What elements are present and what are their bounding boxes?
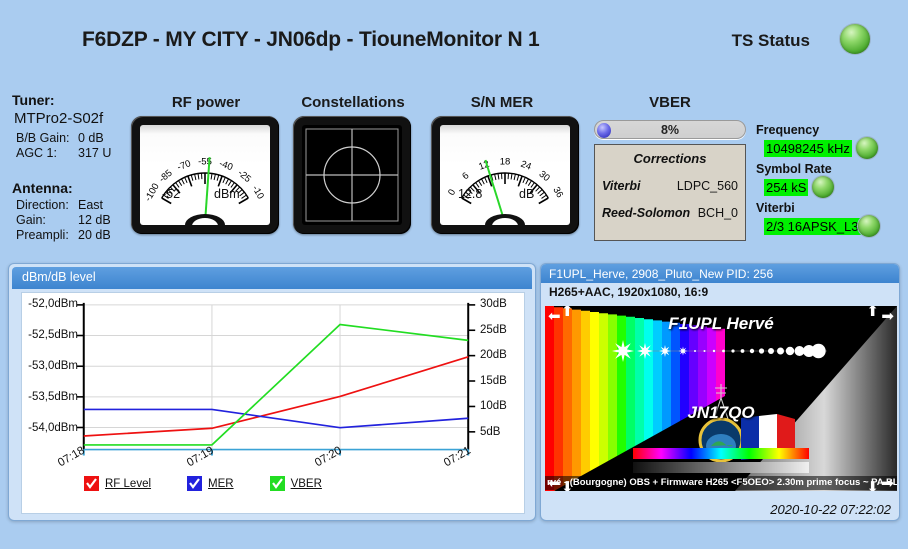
antenna-direction-label: Direction: bbox=[16, 198, 78, 213]
resize-arrow-bottom-left-icon[interactable]: ⬅ bbox=[548, 476, 561, 491]
legend-checkbox[interactable] bbox=[84, 476, 99, 491]
vber-title: VBER bbox=[598, 94, 742, 111]
corrections-reed-solomon-value: BCH_0 bbox=[698, 206, 738, 220]
chart-plot-area: RF LevelMERVBER -52,0dBm-52,5dBm-53,0dBm… bbox=[21, 292, 525, 514]
viterbi-label: Viterbi bbox=[756, 201, 902, 215]
frequency-row: 10498245 kHz bbox=[764, 137, 902, 159]
chart-y-tick-label: -53,0dBm bbox=[22, 360, 78, 372]
rf-power-title: RF power bbox=[136, 94, 276, 111]
viterbi-row: 2/3 16APSK_L3 bbox=[764, 215, 902, 237]
chart-y2-tick-label: 5dB bbox=[480, 426, 500, 438]
viterbi-lock-led-icon bbox=[858, 215, 880, 237]
resize-arrow-up-right-icon[interactable]: ⬆ bbox=[866, 306, 879, 319]
frequency-label: Frequency bbox=[756, 123, 902, 137]
antenna-row-preampli: Preampli: 20 dB bbox=[16, 228, 130, 243]
video-panel: F1UPL_Herve, 2908_Pluto_New PID: 256 H26… bbox=[540, 263, 900, 521]
video-ticker-text: rvé - (Bourgogne) OBS + Firmware H265 <F… bbox=[545, 476, 897, 490]
resize-arrow-up-left-icon[interactable]: ⬆ bbox=[561, 306, 574, 319]
antenna-gain-label: Gain: bbox=[16, 213, 78, 228]
antenna-row-gain: Gain: 12 dB bbox=[16, 213, 130, 228]
antenna-gain-value: 12 dB bbox=[78, 213, 111, 228]
symbol-rate-row: 254 kS bbox=[764, 176, 902, 198]
svg-text:-70: -70 bbox=[176, 158, 193, 173]
corrections-row-reed-solomon: Reed-Solomon BCH_0 bbox=[595, 206, 745, 220]
constellations-title: Constellations bbox=[292, 94, 414, 111]
video-callsign-overlay: F1UPL Hervé bbox=[545, 314, 897, 334]
vber-progress-bar: 8% bbox=[594, 120, 746, 139]
tuner-row-agc: AGC 1: 317 U bbox=[16, 146, 130, 161]
svg-text:0: 0 bbox=[446, 187, 458, 197]
tuner-bb-gain-label: B/B Gain: bbox=[16, 131, 78, 146]
symbol-rate-value: 254 kS bbox=[764, 179, 808, 196]
chart-legend-item[interactable]: VBER bbox=[270, 476, 322, 491]
svg-text:-10: -10 bbox=[250, 184, 266, 201]
symbol-rate-label: Symbol Rate bbox=[756, 162, 902, 176]
color-bar-strip bbox=[633, 448, 809, 459]
chart-y2-tick-label: 15dB bbox=[480, 375, 507, 387]
tuner-row-bb-gain: B/B Gain: 0 dB bbox=[16, 131, 130, 146]
chart-panel: dBm/dB level RF LevelMERVBER -52,0dBm-52… bbox=[8, 263, 536, 521]
corrections-reed-solomon-label: Reed-Solomon bbox=[602, 206, 690, 220]
frequency-value: 10498245 kHz bbox=[764, 140, 852, 157]
svg-text:6: 6 bbox=[460, 170, 471, 182]
antenna-row-direction: Direction: East bbox=[16, 198, 130, 213]
ts-status-label: TS Status bbox=[732, 31, 810, 51]
chart-panel-title: dBm/dB level bbox=[12, 267, 532, 289]
sn-mer-meter: 061218243036 12.8 dB bbox=[431, 116, 579, 234]
gray-scale-strip bbox=[633, 462, 809, 473]
chart-y2-tick-label: 10dB bbox=[480, 400, 507, 412]
vber-percent-label: 8% bbox=[595, 121, 745, 138]
legend-label: VBER bbox=[291, 478, 322, 490]
chart-y-tick-label: -52,5dBm bbox=[22, 329, 78, 341]
video-timestamp: 2020-10-22 07:22:02 bbox=[770, 502, 891, 517]
chart-legend: RF LevelMERVBER bbox=[84, 476, 322, 491]
chart-legend-item[interactable]: RF Level bbox=[84, 476, 151, 491]
corrections-viterbi-label: Viterbi bbox=[602, 179, 640, 193]
viterbi-value: 2/3 16APSK_L3 bbox=[764, 218, 872, 235]
tuner-agc-label: AGC 1: bbox=[16, 146, 78, 161]
tuner-bb-gain-value: 0 dB bbox=[78, 131, 104, 146]
rf-power-meter: -100-85-70-55-40-25-10 -52 dBm bbox=[131, 116, 279, 234]
chart-y2-tick-label: 30dB bbox=[480, 298, 507, 310]
sn-mer-value: 12.8 bbox=[458, 187, 482, 201]
symbol-rate-lock-led-icon bbox=[812, 176, 834, 198]
antenna-info: Antenna: Direction: East Gain: 12 dB Pre… bbox=[12, 180, 130, 243]
corrections-viterbi-value: LDPC_560 bbox=[677, 179, 738, 193]
chart-y-tick-label: -54,0dBm bbox=[22, 422, 78, 434]
tuner-agc-value: 317 U bbox=[78, 146, 111, 161]
antenna-heading: Antenna: bbox=[12, 180, 130, 196]
resize-arrow-down-left-icon[interactable]: ⬇ bbox=[561, 480, 574, 491]
svg-text:18: 18 bbox=[500, 157, 511, 168]
resize-arrow-bottom-right-icon[interactable]: ➡ bbox=[881, 476, 894, 491]
chart-y-tick-label: -52,0dBm bbox=[22, 298, 78, 310]
signal-readouts: Frequency 10498245 kHz Symbol Rate 254 k… bbox=[756, 120, 902, 237]
legend-label: RF Level bbox=[105, 478, 151, 490]
sn-mer-unit: dB bbox=[519, 187, 534, 201]
sn-mer-scale: 061218243036 bbox=[440, 127, 570, 225]
corrections-panel: Corrections Viterbi LDPC_560 Reed-Solomo… bbox=[594, 144, 746, 241]
ts-status-led-icon bbox=[840, 24, 870, 54]
video-format-label: H265+AAC, 1920x1080, 16:9 bbox=[541, 283, 899, 302]
antenna-preampli-label: Preampli: bbox=[16, 228, 78, 243]
svg-text:24: 24 bbox=[519, 159, 533, 173]
chart-y2-tick-label: 20dB bbox=[480, 349, 507, 361]
sn-mer-title: S/N MER bbox=[432, 94, 572, 111]
legend-checkbox[interactable] bbox=[270, 476, 285, 491]
svg-text:-100: -100 bbox=[143, 182, 162, 204]
antenna-direction-value: East bbox=[78, 198, 103, 213]
resize-arrow-right-icon[interactable]: ➡ bbox=[881, 309, 894, 324]
video-panel-title: F1UPL_Herve, 2908_Pluto_New PID: 256 bbox=[541, 264, 899, 283]
tuner-model: MTPro2-S02f bbox=[14, 110, 130, 127]
page-title: F6DZP - MY CITY - JN06dp - TiouneMonitor… bbox=[82, 28, 540, 52]
sn-mer-meter-face: 061218243036 12.8 dB bbox=[440, 125, 570, 225]
tuner-heading: Tuner: bbox=[12, 92, 130, 108]
tuner-info: Tuner: MTPro2-S02f B/B Gain: 0 dB AGC 1:… bbox=[12, 92, 130, 161]
svg-text:30: 30 bbox=[537, 169, 552, 184]
app-header: F6DZP - MY CITY - JN06dp - TiouneMonitor… bbox=[0, 0, 908, 78]
legend-checkbox[interactable] bbox=[187, 476, 202, 491]
svg-text:-40: -40 bbox=[218, 158, 235, 173]
constellation-face bbox=[302, 125, 402, 225]
antenna-preampli-value: 20 dB bbox=[78, 228, 111, 243]
frequency-lock-led-icon bbox=[856, 137, 878, 159]
resize-arrow-left-icon[interactable]: ⬅ bbox=[548, 309, 561, 324]
video-locator-overlay: JN17QO bbox=[545, 403, 897, 423]
svg-text:36: 36 bbox=[550, 185, 565, 200]
video-screen[interactable]: F1UPL Hervé JN17QO rvé - (Bourgogne) OBS… bbox=[545, 306, 897, 491]
corrections-title: Corrections bbox=[595, 151, 745, 166]
rf-power-unit: dBm bbox=[214, 187, 240, 201]
svg-text:-25: -25 bbox=[235, 168, 253, 185]
corrections-row-viterbi: Viterbi LDPC_560 bbox=[595, 179, 745, 193]
rf-power-meter-face: -100-85-70-55-40-25-10 -52 dBm bbox=[140, 125, 270, 225]
rf-power-value: -52 bbox=[162, 187, 180, 201]
svg-text:-85: -85 bbox=[157, 168, 175, 185]
chart-y-tick-label: -53,5dBm bbox=[22, 391, 78, 403]
chart-y2-tick-label: 25dB bbox=[480, 324, 507, 336]
legend-label: MER bbox=[208, 478, 234, 490]
chart-legend-item[interactable]: MER bbox=[187, 476, 234, 491]
constellation-grid-icon bbox=[302, 125, 402, 225]
constellation-display bbox=[293, 116, 411, 234]
resize-arrow-down-right-icon[interactable]: ⬇ bbox=[866, 480, 879, 491]
